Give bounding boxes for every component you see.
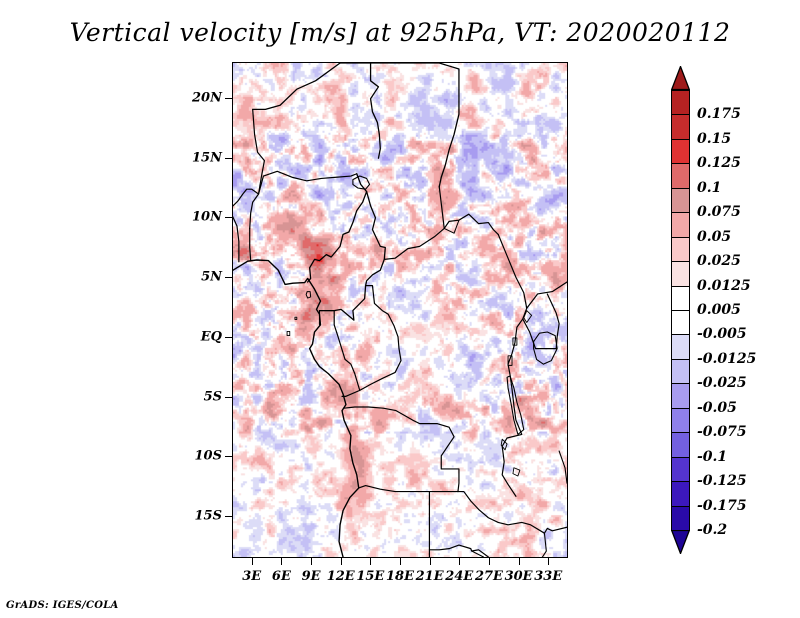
y-axis-tick bbox=[225, 98, 232, 99]
colorbar-tick-label: 0.1 bbox=[697, 180, 721, 196]
colorbar-tick-label: 0.15 bbox=[697, 131, 731, 147]
x-axis-tick bbox=[341, 558, 342, 565]
x-axis-tick-label: 27E bbox=[475, 569, 503, 584]
x-axis-tick bbox=[459, 558, 460, 565]
colorbar-swatch[interactable] bbox=[671, 457, 690, 483]
border-line bbox=[360, 286, 401, 391]
colorbar-tick-label: -0.125 bbox=[697, 473, 747, 489]
colorbar-tick-label: -0.005 bbox=[697, 326, 747, 342]
colorbar-swatch[interactable] bbox=[671, 90, 690, 116]
border-line bbox=[542, 533, 546, 557]
colorbar-tick-label: 0.075 bbox=[697, 204, 741, 220]
colorbar-tick-label: 0.05 bbox=[697, 229, 731, 245]
y-axis-tick-label: 5N bbox=[201, 270, 222, 285]
border-line bbox=[527, 282, 567, 308]
x-axis-tick-label: 3E bbox=[242, 569, 261, 584]
border-line bbox=[384, 214, 498, 259]
x-axis-tick bbox=[370, 558, 371, 565]
y-axis-tick bbox=[225, 397, 232, 398]
border-line bbox=[253, 63, 340, 109]
border-line bbox=[449, 545, 488, 557]
colorbar-swatch[interactable] bbox=[671, 334, 690, 360]
colorbar-tick-label: -0.025 bbox=[697, 375, 747, 391]
border-line bbox=[340, 63, 380, 158]
y-axis-tick-label: 15N bbox=[192, 150, 222, 165]
page-title: Vertical velocity [m/s] at 925hPa, VT: 2… bbox=[0, 18, 800, 47]
border-line bbox=[344, 407, 459, 492]
colorbar-swatch[interactable] bbox=[671, 163, 690, 189]
colorbar-swatch[interactable] bbox=[671, 481, 690, 507]
colorbar-tick-label: -0.0125 bbox=[697, 351, 756, 367]
border-line bbox=[547, 294, 559, 349]
x-axis-tick-label: 9E bbox=[302, 569, 321, 584]
border-line bbox=[439, 187, 444, 229]
colorbar-swatch[interactable] bbox=[671, 237, 690, 263]
border-line bbox=[458, 492, 567, 534]
border-line bbox=[233, 206, 239, 262]
border-line bbox=[306, 292, 310, 298]
border-line bbox=[559, 451, 567, 483]
colorbar-tick-label: 0.025 bbox=[697, 253, 741, 269]
x-axis-tick-label: 30E bbox=[505, 569, 533, 584]
y-axis-tick-label: 20N bbox=[192, 90, 222, 105]
y-axis-tick bbox=[225, 337, 232, 338]
colorbar-tick-label: -0.2 bbox=[697, 522, 727, 538]
colorbar-tick-label: 0.0125 bbox=[697, 278, 751, 294]
x-axis-tick bbox=[489, 558, 490, 565]
colorbar-tick-label: -0.075 bbox=[697, 424, 747, 440]
x-axis-tick bbox=[400, 558, 401, 565]
border-line bbox=[513, 468, 520, 476]
colorbar-tick-label: 0.175 bbox=[697, 106, 741, 122]
border-line bbox=[250, 228, 251, 260]
colorbar-swatch[interactable] bbox=[671, 359, 690, 385]
y-axis-tick bbox=[225, 217, 232, 218]
border-line bbox=[444, 220, 459, 233]
footer-credit: GrADS: IGES/COLA bbox=[6, 600, 119, 611]
colorbar-swatch[interactable] bbox=[671, 212, 690, 238]
border-line bbox=[308, 174, 367, 282]
border-line bbox=[259, 171, 357, 194]
colorbar-swatch[interactable] bbox=[671, 506, 690, 532]
border-line bbox=[507, 376, 524, 434]
y-axis-tick-label: EQ bbox=[201, 329, 222, 344]
border-line bbox=[353, 176, 370, 189]
border-line bbox=[287, 331, 290, 335]
y-axis-tick-label: 10N bbox=[192, 210, 222, 225]
y-axis-tick bbox=[225, 456, 232, 457]
x-axis-tick-label: 15E bbox=[356, 569, 384, 584]
colorbar[interactable]: 0.1750.150.1250.10.0750.050.0250.01250.0… bbox=[671, 66, 692, 554]
border-line bbox=[295, 317, 297, 319]
x-axis-tick-label: 12E bbox=[327, 569, 355, 584]
x-axis-tick-label: 6E bbox=[272, 569, 291, 584]
y-axis-tick bbox=[225, 158, 232, 159]
y-axis-tick-label: 10S bbox=[195, 449, 222, 464]
x-axis-tick bbox=[281, 558, 282, 565]
x-axis-tick bbox=[519, 558, 520, 565]
colorbar-swatch[interactable] bbox=[671, 139, 690, 165]
colorbar-top-arrow bbox=[671, 66, 690, 90]
colorbar-tick-label: -0.05 bbox=[697, 400, 737, 416]
colorbar-swatch[interactable] bbox=[671, 261, 690, 287]
colorbar-swatch[interactable] bbox=[671, 286, 690, 312]
y-axis-tick bbox=[225, 277, 232, 278]
x-axis-tick bbox=[311, 558, 312, 565]
x-axis-tick bbox=[252, 558, 253, 565]
colorbar-swatch[interactable] bbox=[671, 310, 690, 336]
y-axis-tick bbox=[225, 516, 232, 517]
colorbar-bottom-arrow bbox=[671, 530, 690, 554]
colorbar-swatch[interactable] bbox=[671, 408, 690, 434]
map-plot-frame bbox=[232, 62, 568, 558]
country-borders-overlay bbox=[233, 63, 567, 557]
border-line bbox=[498, 234, 527, 496]
x-axis-tick bbox=[548, 558, 549, 565]
x-axis-tick-label: 33E bbox=[534, 569, 562, 584]
border-line bbox=[359, 486, 458, 492]
colorbar-tick-label: -0.175 bbox=[697, 498, 747, 514]
border-line bbox=[250, 194, 259, 228]
map-panel: 20N15N10N5NEQ5S10S15S3E6E9E12E15E18E21E2… bbox=[232, 62, 568, 558]
colorbar-swatch[interactable] bbox=[671, 383, 690, 409]
border-line bbox=[429, 549, 449, 550]
colorbar-tick-label: -0.1 bbox=[697, 449, 727, 465]
x-axis-tick-label: 21E bbox=[416, 569, 444, 584]
colorbar-swatch[interactable] bbox=[671, 432, 690, 458]
colorbar-tick-label: 0.125 bbox=[697, 155, 741, 171]
colorbar-tick-label: 0.005 bbox=[697, 302, 741, 318]
border-line bbox=[233, 260, 359, 557]
colorbar-swatch[interactable] bbox=[671, 114, 690, 140]
x-axis-tick-label: 24E bbox=[445, 569, 473, 584]
y-axis-tick-label: 5S bbox=[204, 389, 222, 404]
x-axis-tick bbox=[430, 558, 431, 565]
y-axis-tick-label: 15S bbox=[195, 509, 222, 524]
border-line bbox=[371, 63, 459, 187]
colorbar-swatch[interactable] bbox=[671, 188, 690, 214]
x-axis-tick-label: 18E bbox=[386, 569, 414, 584]
